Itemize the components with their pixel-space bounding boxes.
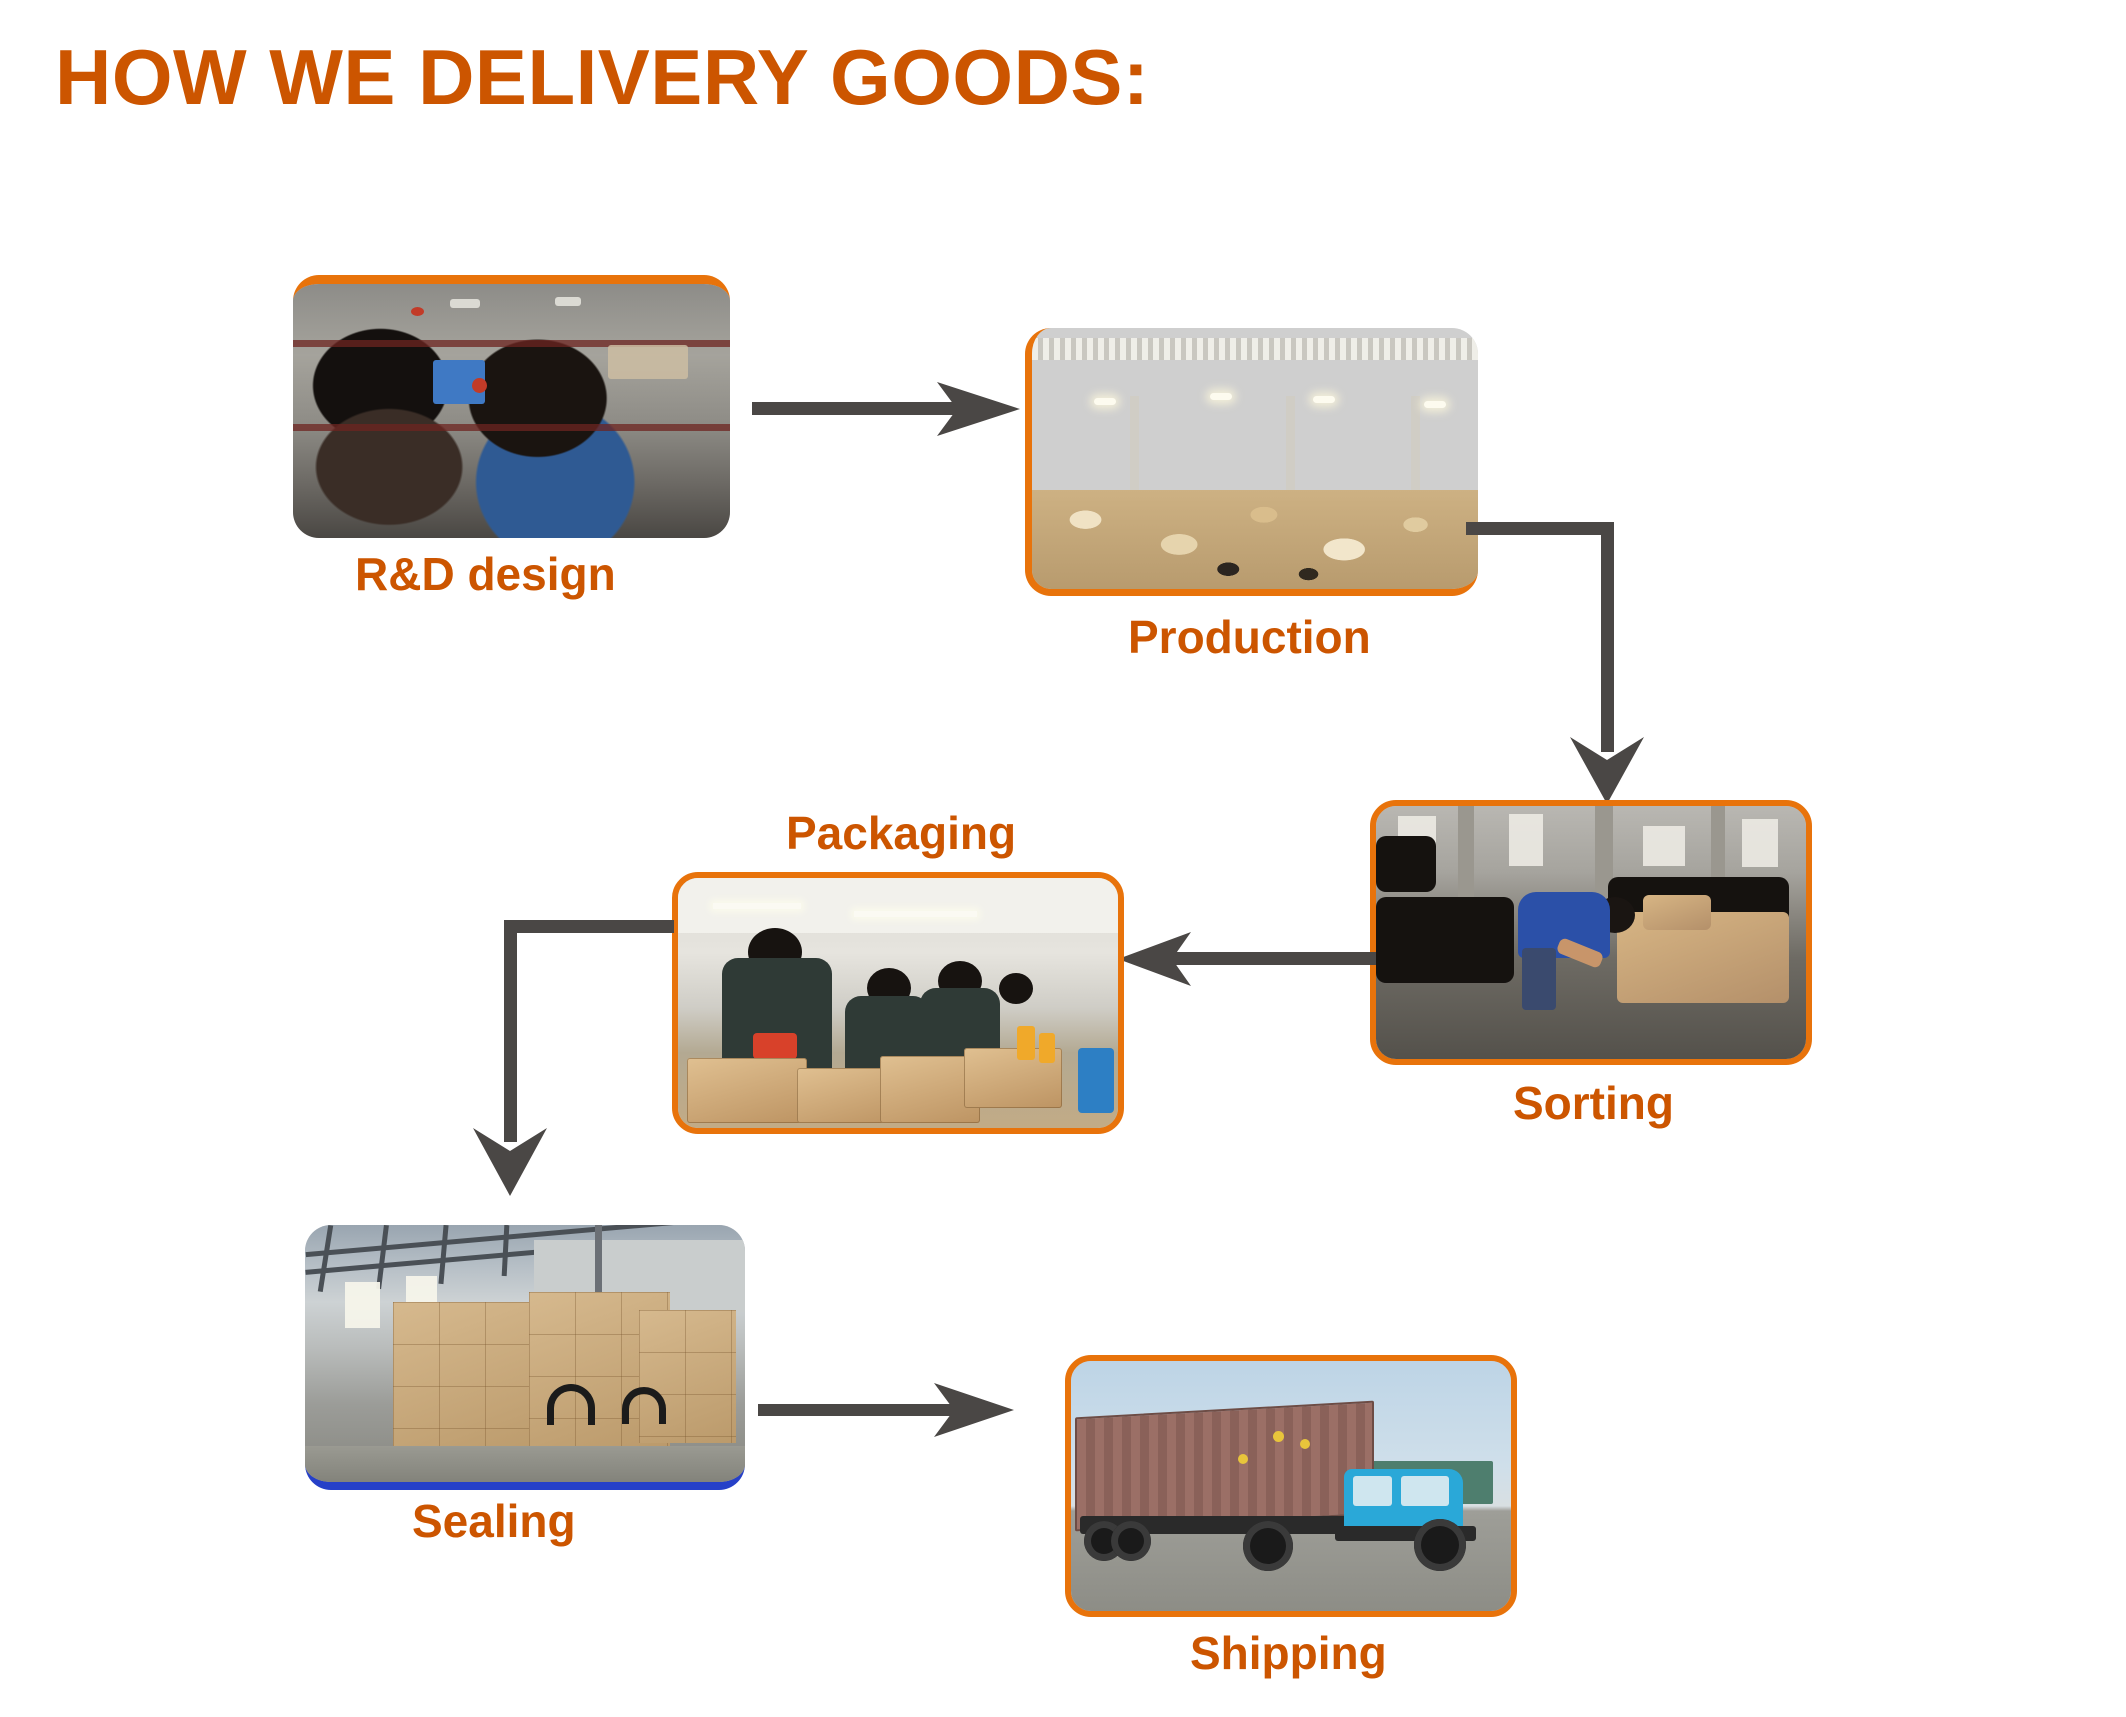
- step-card-rd-design[interactable]: [293, 275, 730, 538]
- caption-shipping: Shipping: [1190, 1630, 1387, 1676]
- production-scene: [1032, 328, 1478, 589]
- step-card-sorting[interactable]: [1370, 800, 1812, 1065]
- connector-sorting-to-packaging: [1118, 928, 1376, 990]
- caption-rd-design: R&D design: [355, 551, 616, 597]
- step-card-production[interactable]: [1025, 328, 1478, 596]
- caption-sorting: Sorting: [1513, 1080, 1674, 1126]
- connector-rd-to-production: [752, 378, 1022, 440]
- rd-design-scene: [293, 284, 730, 538]
- connector-packaging-to-sealing: [468, 920, 674, 1205]
- shipping-photo: [1065, 1355, 1517, 1617]
- sealing-scene: [305, 1225, 745, 1482]
- packaging-scene: [678, 878, 1118, 1128]
- shipping-scene: [1071, 1361, 1511, 1611]
- connector-production-to-sorting: [1466, 522, 1666, 812]
- caption-production: Production: [1128, 614, 1371, 660]
- rd-design-photo: [293, 275, 730, 538]
- sealing-photo: [305, 1225, 745, 1490]
- sorting-photo: [1370, 800, 1812, 1065]
- step-card-shipping[interactable]: [1065, 1355, 1517, 1617]
- sorting-scene: [1376, 806, 1806, 1059]
- caption-packaging: Packaging: [786, 810, 1016, 856]
- infographic-canvas: HOW WE DELIVERY GOODS: R&D design: [0, 0, 2126, 1717]
- caption-sealing: Sealing: [412, 1498, 576, 1544]
- step-card-packaging[interactable]: [672, 872, 1124, 1134]
- connector-sealing-to-shipping: [758, 1380, 1016, 1442]
- step-card-sealing[interactable]: [305, 1225, 745, 1490]
- production-photo: [1025, 328, 1478, 596]
- packaging-photo: [672, 872, 1124, 1134]
- page-title: HOW WE DELIVERY GOODS:: [55, 38, 1149, 116]
